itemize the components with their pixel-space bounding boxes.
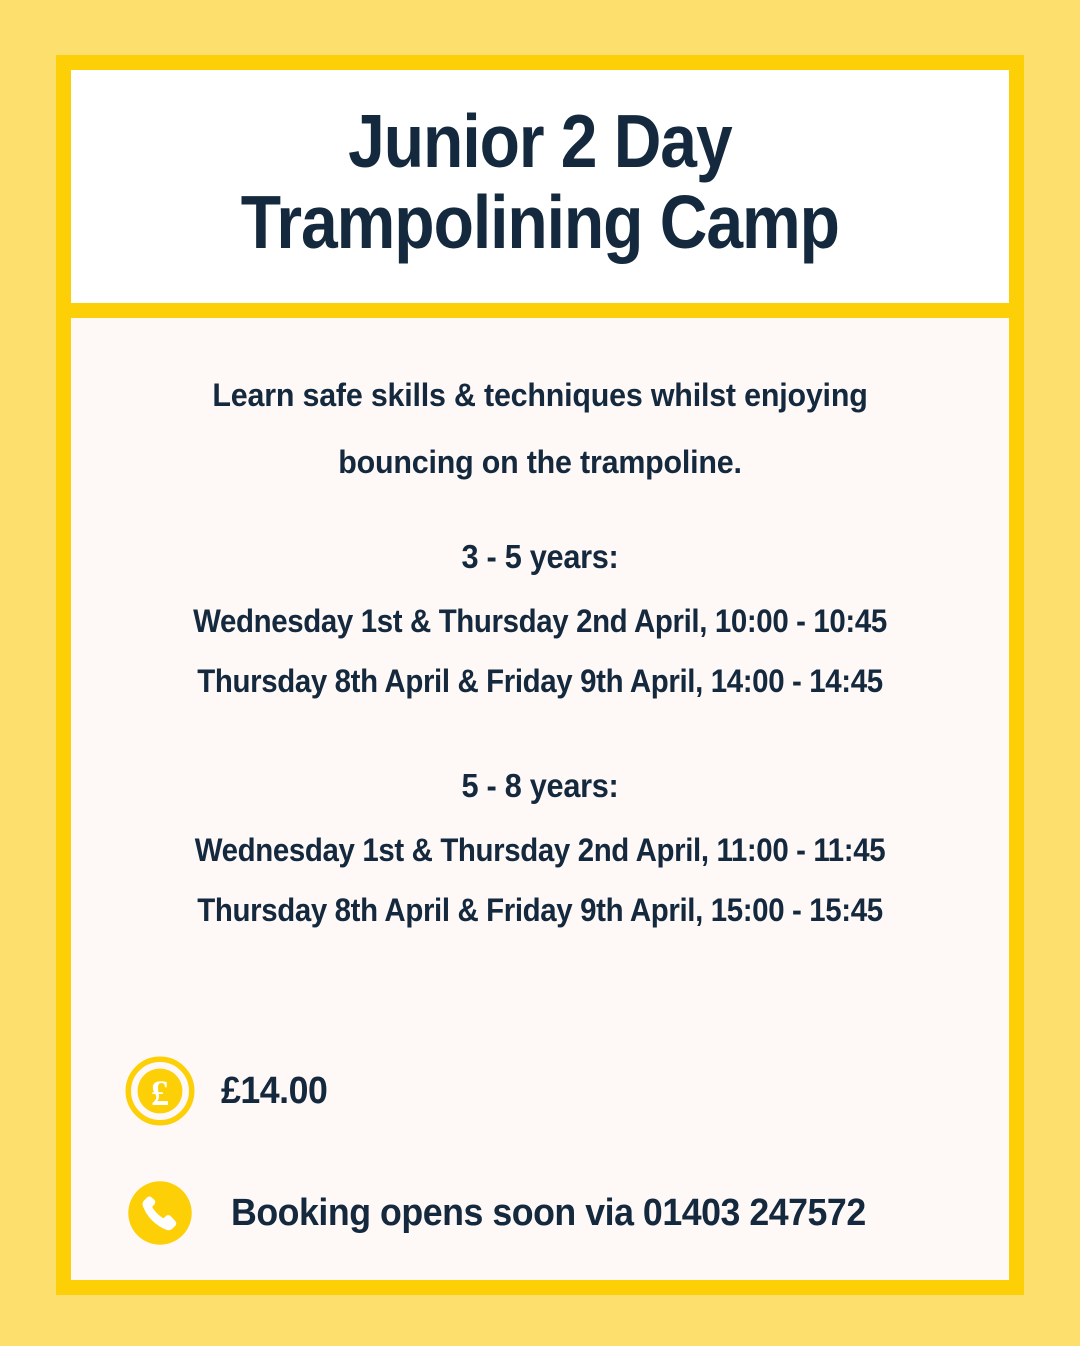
page-title-line-2: Trampolining Camp xyxy=(241,182,839,263)
price-value: £14.00 xyxy=(221,1070,327,1113)
intro-text: Learn safe skills & techniques whilst en… xyxy=(157,362,923,496)
page-title-line-1: Junior 2 Day xyxy=(348,101,731,182)
info-rows: £ £14.00 Booking opens soon via 01403 24… xyxy=(119,1056,961,1254)
age-group-3-5: 3 - 5 years: Wednesday 1st & Thursday 2n… xyxy=(119,540,961,697)
title-panel: Junior 2 Day Trampolining Camp xyxy=(71,70,1009,303)
booking-row: Booking opens soon via 01403 247572 xyxy=(119,1178,961,1248)
age-group-label: 5 - 8 years: xyxy=(148,769,931,802)
booking-text: Booking opens soon via 01403 247572 xyxy=(231,1192,866,1235)
session-line: Wednesday 1st & Thursday 2nd April, 10:0… xyxy=(153,605,928,637)
age-group-label: 3 - 5 years: xyxy=(148,540,931,573)
age-group-5-8: 5 - 8 years: Wednesday 1st & Thursday 2n… xyxy=(119,769,961,926)
session-line: Wednesday 1st & Thursday 2nd April, 11:0… xyxy=(153,834,928,866)
session-line: Thursday 8th April & Friday 9th April, 1… xyxy=(153,665,928,697)
body-panel: Learn safe skills & techniques whilst en… xyxy=(71,318,1009,1280)
price-row: £ £14.00 xyxy=(119,1056,961,1126)
panel-divider xyxy=(71,303,1009,318)
pound-coin-icon: £ xyxy=(125,1056,195,1126)
poster-frame: Junior 2 Day Trampolining Camp Learn saf… xyxy=(56,55,1024,1295)
svg-text:£: £ xyxy=(151,1073,169,1113)
session-line: Thursday 8th April & Friday 9th April, 1… xyxy=(153,894,928,926)
phone-icon xyxy=(125,1178,195,1248)
